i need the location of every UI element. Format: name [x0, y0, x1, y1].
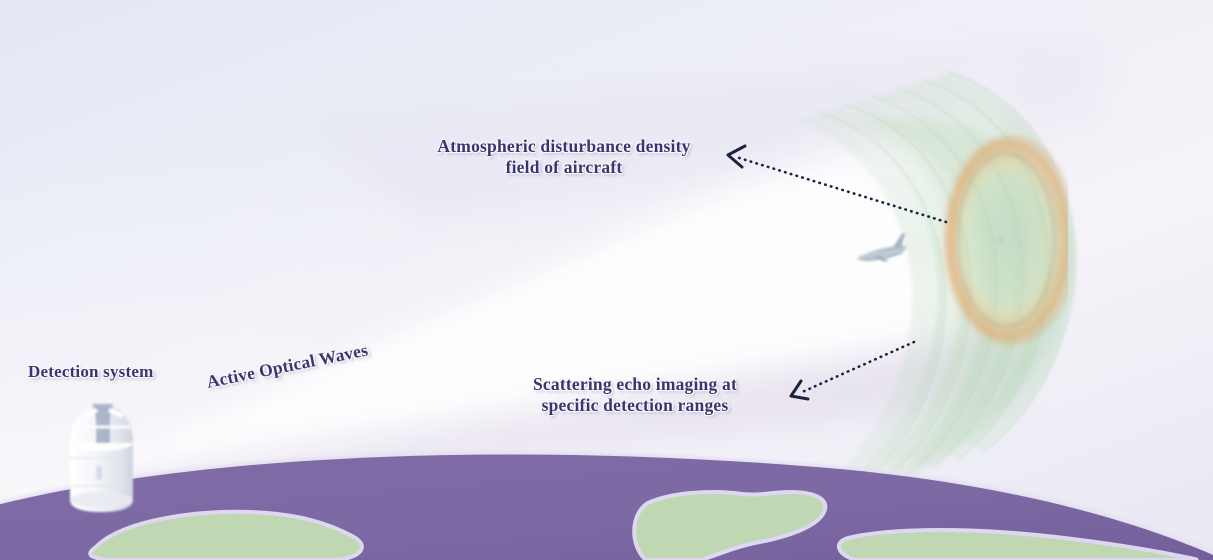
observatory-layer [0, 0, 1213, 560]
diagram-canvas: Atmospheric disturbance density field of… [0, 0, 1213, 560]
dome-window [96, 466, 102, 480]
observatory-dome[interactable] [70, 404, 133, 512]
label-density-field: Atmospheric disturbance density field of… [424, 136, 704, 179]
label-detection-system: Detection system [28, 362, 208, 383]
label-scattering-echo: Scattering echo imaging at specific dete… [500, 374, 770, 417]
